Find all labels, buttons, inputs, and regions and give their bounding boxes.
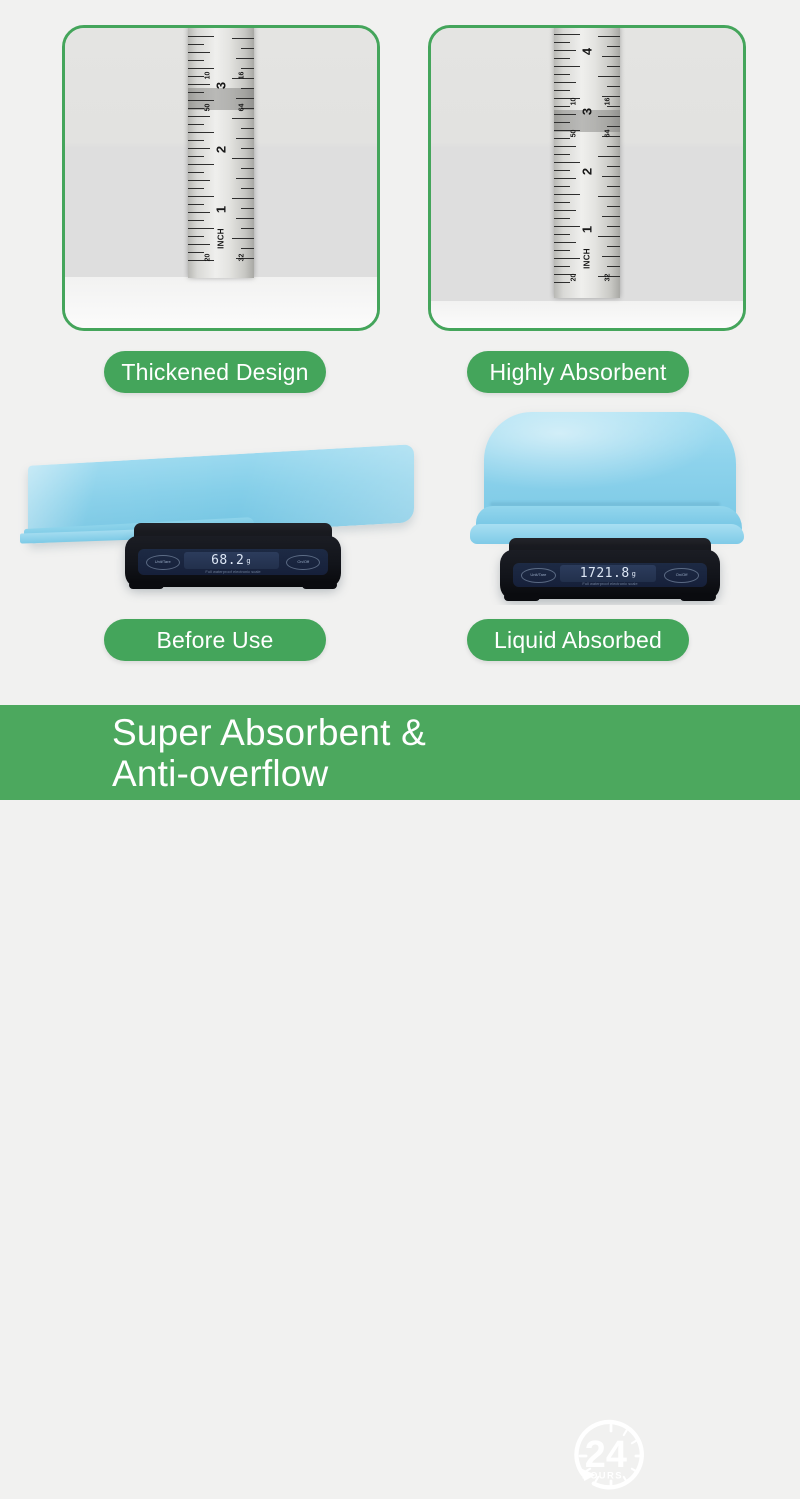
photo-thickened-design: 3 2 1 10 16 50 64 20 32 INCH [65,28,377,328]
headline-line-1: Super Absorbent & [112,713,426,754]
scale-unit-tare-button[interactable]: Unit/Tare [146,555,180,570]
scale-foot [680,593,715,601]
badge-caption: HOURS [582,1470,623,1481]
ruler-inch-mark: 3 [214,77,229,95]
clock-24-hours-svg: 24 HOURS [568,1413,654,1499]
label-highly-absorbent: Highly Absorbent [467,351,689,393]
ruler-inch-mark: 4 [580,43,595,61]
ruler-unit-label: INCH [217,225,226,253]
ruler-inch-mark: 1 [214,201,229,219]
ruler-inch-mark: 3 [580,103,595,121]
steel-ruler: 3 2 1 10 16 50 64 20 32 INCH [188,28,254,278]
table-surface [431,301,743,328]
label-before-use: Before Use [104,619,326,661]
bottom-banner: Super Absorbent & Anti-overflow [0,705,800,800]
ruler-metric-mark: 50 [205,99,212,117]
scale-caption: Full waterproof electronic scale [513,581,707,586]
scale-lcd-display: 68.2 g [184,552,279,569]
label-thickened-design: Thickened Design [104,351,326,393]
photo-liquid-absorbed: Unit/Tare 1721.8 g On/Off Full waterproo… [430,398,800,605]
ruler-metric-mark: 32 [605,269,612,287]
ruler-metric-mark: 10 [571,93,578,111]
scale-lcd-display: 1721.8 g [560,565,657,581]
clock-24-hours-icon: 24 HOURS [568,1413,654,1499]
scale-unit-tare-button[interactable]: Unit/Tare [521,568,556,583]
scale-reading-unit: g [246,557,251,565]
photo-frame-thickened-design: 3 2 1 10 16 50 64 20 32 INCH [62,25,380,331]
ruler-inch-mark: 2 [214,141,229,159]
scale-reading: 1721.8 [580,566,630,581]
label-liquid-absorbed: Liquid Absorbed [467,619,689,661]
scale-power-button[interactable]: On/Off [664,568,699,583]
product-feature-graphic: 3 2 1 10 16 50 64 20 32 INCH [0,0,800,800]
ruler-face: 3 2 1 10 16 50 64 20 32 INCH [188,28,254,278]
ruler-metric-mark: 50 [571,125,578,143]
ruler-metric-mark: 20 [205,249,212,267]
digital-scale-liquid-absorbed: Unit/Tare 1721.8 g On/Off Full waterproo… [500,538,720,604]
scale-foot [129,581,164,589]
scale-caption: Full waterproof electronic scale [138,569,328,574]
ruler-metric-mark: 32 [239,249,246,267]
ruler-metric-mark: 64 [605,125,612,143]
table-surface [65,277,377,328]
ruler-inch-mark: 1 [580,221,595,239]
scale-foot [302,581,337,589]
scale-reading-unit: g [632,570,637,578]
scale-body: Unit/Tare 68.2 g On/Off Full waterproof … [125,536,341,588]
scale-face: Unit/Tare 68.2 g On/Off Full waterproof … [138,549,328,575]
scale-reading: 68.2 [211,553,244,568]
ruler-face: 4 3 2 1 10 16 50 64 20 32 INCH [554,28,620,298]
banner-headline: Super Absorbent & Anti-overflow [112,713,426,794]
scale-foot [504,593,539,601]
ruler-metric-mark: 16 [605,93,612,111]
headline-line-2: Anti-overflow [112,754,426,795]
photo-highly-absorbent: 4 3 2 1 10 16 50 64 20 32 INCH [431,28,743,328]
ruler-metric-mark: 20 [571,269,578,287]
scale-power-button[interactable]: On/Off [286,555,320,570]
scale-face: Unit/Tare 1721.8 g On/Off Full waterproo… [513,563,707,587]
photo-before-use: Unit/Tare 68.2 g On/Off Full waterproof … [10,415,430,605]
ruler-metric-mark: 16 [239,67,246,85]
scale-body: Unit/Tare 1721.8 g On/Off Full waterproo… [500,550,720,599]
ruler-unit-label: INCH [583,245,592,273]
photo-frame-highly-absorbent: 4 3 2 1 10 16 50 64 20 32 INCH [428,25,746,331]
ruler-metric-mark: 64 [239,99,246,117]
ruler-inch-mark: 2 [580,163,595,181]
steel-ruler: 4 3 2 1 10 16 50 64 20 32 INCH [554,28,620,298]
ruler-metric-mark: 10 [205,67,212,85]
digital-scale-before-use: Unit/Tare 68.2 g On/Off Full waterproof … [125,523,341,593]
